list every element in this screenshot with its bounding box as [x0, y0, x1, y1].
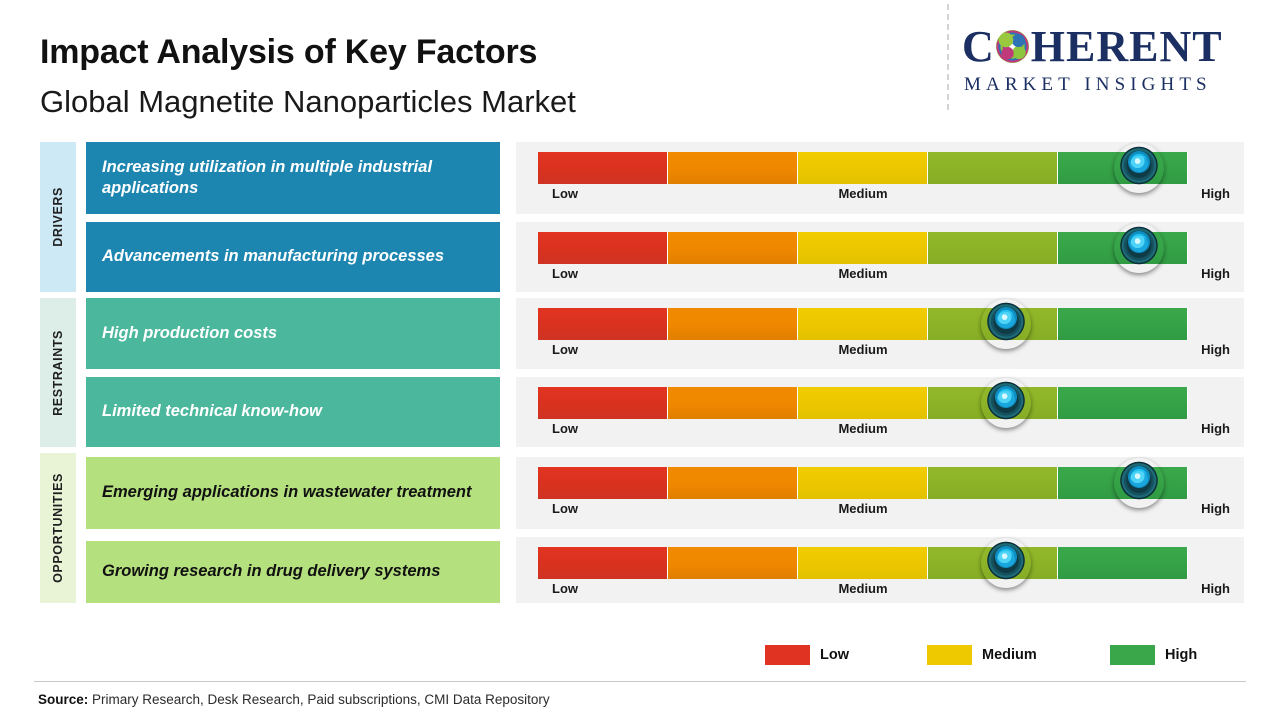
company-logo: C HERENT MARKET INSIGHTS — [962, 22, 1262, 108]
gauge-scale-4: Low Medium High — [538, 421, 1188, 441]
slide-root: Impact Analysis of Key Factors Global Ma… — [0, 0, 1280, 720]
gauge-bar-4[interactable] — [538, 387, 1188, 419]
logo-letters-herent: HERENT — [1031, 21, 1223, 72]
gauge-segment-4-high — [1058, 387, 1188, 419]
factor-box-4[interactable]: Limited technical know-how — [86, 377, 500, 447]
category-strip-drivers: DRIVERS — [40, 142, 76, 292]
gauge-bar-1[interactable] — [538, 152, 1188, 184]
legend-swatch-high — [1110, 645, 1155, 665]
gauge-segment-3-medium — [798, 308, 928, 340]
factor-box-3[interactable]: High production costs — [86, 298, 500, 369]
scale-label-high-2: High — [1201, 266, 1230, 281]
legend-item-low: Low — [765, 645, 849, 665]
legend-label-medium: Medium — [982, 647, 1037, 663]
source-text: Primary Research, Desk Research, Paid su… — [88, 692, 549, 707]
category-strip-opportunities: OPPORTUNITIES — [40, 453, 76, 603]
gauge-row-3: Low Medium High — [516, 298, 1244, 369]
gauge-segment-6-high — [1058, 547, 1188, 579]
gauge-segment-5-medhigh — [928, 467, 1058, 499]
legend-item-medium: Medium — [927, 645, 1037, 665]
legend-item-high: High — [1110, 645, 1197, 665]
gauge-row-1: Low Medium High — [516, 142, 1244, 214]
gauge-segment-4-medhigh — [928, 387, 1058, 419]
scale-label-medium-4: Medium — [838, 421, 887, 436]
gauge-segment-5-low — [538, 467, 668, 499]
gauge-segment-2-high — [1058, 232, 1188, 264]
factor-box-1[interactable]: Increasing utilization in multiple indus… — [86, 142, 500, 214]
gauge-bar-2[interactable] — [538, 232, 1188, 264]
gauge-segment-3-medhigh — [928, 308, 1058, 340]
scale-label-high-6: High — [1201, 581, 1230, 596]
gauge-segment-3-lowmed — [668, 308, 798, 340]
scale-label-low-1: Low — [552, 186, 578, 201]
scale-label-low-5: Low — [552, 501, 578, 516]
page-title: Impact Analysis of Key Factors — [40, 33, 537, 72]
scale-label-medium-1: Medium — [838, 186, 887, 201]
scale-label-high-1: High — [1201, 186, 1230, 201]
scale-label-low-2: Low — [552, 266, 578, 281]
gauge-segment-2-low — [538, 232, 668, 264]
slide-header: Impact Analysis of Key Factors Global Ma… — [0, 0, 1280, 128]
gauge-segment-6-medhigh — [928, 547, 1058, 579]
factor-box-5[interactable]: Emerging applications in wastewater trea… — [86, 457, 500, 529]
factor-box-6[interactable]: Growing research in drug delivery system… — [86, 541, 500, 603]
category-strip-restraints: RESTRAINTS — [40, 298, 76, 447]
gauge-segment-5-medium — [798, 467, 928, 499]
scale-label-high-5: High — [1201, 501, 1230, 516]
gauge-segment-4-lowmed — [668, 387, 798, 419]
category-label-drivers: DRIVERS — [51, 187, 65, 247]
gauge-segment-5-high — [1058, 467, 1188, 499]
gauge-scale-2: Low Medium High — [538, 266, 1188, 286]
gauge-bar-5[interactable] — [538, 467, 1188, 499]
gauge-scale-5: Low Medium High — [538, 501, 1188, 521]
gauge-segment-3-high — [1058, 308, 1188, 340]
factor-label-5: Emerging applications in wastewater trea… — [102, 482, 472, 503]
gauge-segment-4-low — [538, 387, 668, 419]
legend-swatch-medium — [927, 645, 972, 665]
gauge-segment-2-lowmed — [668, 232, 798, 264]
factor-label-2: Advancements in manufacturing processes — [102, 246, 444, 267]
category-label-restraints: RESTRAINTS — [51, 330, 65, 416]
footer-divider — [34, 681, 1246, 682]
legend-label-high: High — [1165, 647, 1197, 663]
gauge-row-5: Low Medium High — [516, 457, 1244, 529]
gauge-row-2: Low Medium High — [516, 222, 1244, 292]
gauge-segment-1-lowmed — [668, 152, 798, 184]
header-divider — [947, 4, 949, 110]
logo-letter-c: C — [962, 21, 995, 72]
scale-label-high-4: High — [1201, 421, 1230, 436]
gauge-bar-6[interactable] — [538, 547, 1188, 579]
legend-label-low: Low — [820, 647, 849, 663]
scale-label-low-4: Low — [552, 421, 578, 436]
scale-label-high-3: High — [1201, 342, 1230, 357]
page-subtitle: Global Magnetite Nanoparticles Market — [40, 84, 576, 120]
globe-icon — [996, 30, 1029, 63]
gauge-segment-6-medium — [798, 547, 928, 579]
factor-label-6: Growing research in drug delivery system… — [102, 561, 440, 582]
gauge-segment-6-low — [538, 547, 668, 579]
scale-label-medium-2: Medium — [838, 266, 887, 281]
scale-label-medium-3: Medium — [838, 342, 887, 357]
gauge-segment-2-medium — [798, 232, 928, 264]
gauge-segment-1-medium — [798, 152, 928, 184]
source-label: Source: — [38, 692, 88, 707]
gauge-segment-3-low — [538, 308, 668, 340]
category-label-opportunities: OPPORTUNITIES — [51, 473, 65, 583]
scale-label-medium-5: Medium — [838, 501, 887, 516]
gauge-scale-1: Low Medium High — [538, 186, 1188, 206]
factor-label-1: Increasing utilization in multiple indus… — [102, 157, 484, 199]
gauge-segment-6-lowmed — [668, 547, 798, 579]
gauge-bar-3[interactable] — [538, 308, 1188, 340]
scale-label-low-6: Low — [552, 581, 578, 596]
logo-wordmark: C HERENT — [962, 22, 1262, 70]
gauge-scale-6: Low Medium High — [538, 581, 1188, 601]
scale-label-low-3: Low — [552, 342, 578, 357]
chart-legend: Low Medium High — [765, 645, 1185, 669]
factor-box-2[interactable]: Advancements in manufacturing processes — [86, 222, 500, 292]
gauge-row-4: Low Medium High — [516, 377, 1244, 447]
gauge-segment-2-medhigh — [928, 232, 1058, 264]
gauge-row-6: Low Medium High — [516, 537, 1244, 603]
logo-tagline: MARKET INSIGHTS — [964, 74, 1264, 96]
factor-label-4: Limited technical know-how — [102, 401, 322, 422]
gauge-segment-1-high — [1058, 152, 1188, 184]
source-line: Source: Primary Research, Desk Research,… — [38, 692, 550, 707]
gauge-segment-5-lowmed — [668, 467, 798, 499]
gauge-segment-4-medium — [798, 387, 928, 419]
legend-swatch-low — [765, 645, 810, 665]
scale-label-medium-6: Medium — [838, 581, 887, 596]
factor-label-3: High production costs — [102, 323, 277, 344]
gauge-segment-1-medhigh — [928, 152, 1058, 184]
gauge-segment-1-low — [538, 152, 668, 184]
gauge-scale-3: Low Medium High — [538, 342, 1188, 362]
